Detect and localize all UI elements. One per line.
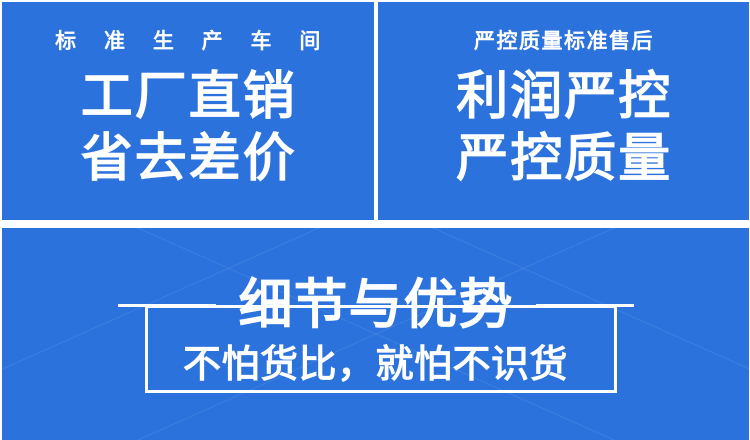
bottom-panel-title: 细节与优势 bbox=[238, 278, 514, 332]
bottom-title-row: 细节与优势 bbox=[2, 268, 749, 342]
top-panel-row: 标 准 生 产 车 间 工厂直销 省去差价 严控质量标准售后 利润严控 严控质量 bbox=[0, 0, 750, 220]
left-panel-eyebrow: 标 准 生 产 车 间 bbox=[44, 31, 331, 52]
right-panel-headline-line1: 利润严控 bbox=[454, 66, 672, 128]
right-panel-headline-line2: 严控质量 bbox=[454, 128, 672, 190]
rule-left-icon bbox=[118, 304, 216, 307]
rule-right-icon bbox=[536, 304, 634, 307]
panel-details-advantages: 细节与优势 不怕货比，就怕不识货 bbox=[2, 228, 749, 440]
promo-banner: 标 准 生 产 车 间 工厂直销 省去差价 严控质量标准售后 利润严控 严控质量… bbox=[0, 0, 750, 440]
panel-quality-control: 严控质量标准售后 利润严控 严控质量 bbox=[378, 2, 750, 220]
left-panel-headline-line1: 工厂直销 bbox=[79, 66, 297, 128]
bottom-panel-subtitle: 不怕货比，就怕不识货 bbox=[2, 346, 749, 384]
right-panel-eyebrow: 严控质量标准售后 bbox=[473, 31, 655, 52]
panel-factory-direct: 标 准 生 产 车 间 工厂直销 省去差价 bbox=[2, 2, 374, 220]
left-panel-headline-line2: 省去差价 bbox=[79, 128, 297, 190]
